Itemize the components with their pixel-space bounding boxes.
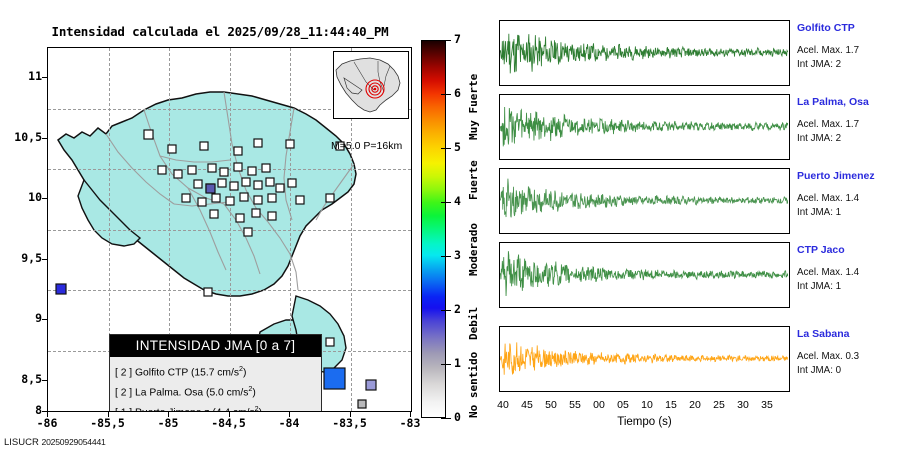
station-accel: Acel. Max. 1.4 [797,267,859,278]
time-tick [600,159,601,160]
map-x-tick: -84 [266,416,312,430]
time-tick [600,94,601,95]
colorbar-tick: 5 [454,140,461,154]
time-tick [648,307,649,308]
time-tick [720,20,721,21]
station-jma: Int JMA: 1 [797,207,841,218]
time-tick [504,391,505,392]
colorbar-tick: 7 [454,32,461,46]
legend-level: [ 2 ] [115,367,132,378]
time-tick [576,94,577,95]
time-tick [672,94,673,95]
time-tick [648,94,649,95]
legend-level: [ 2 ] [115,387,132,398]
time-tick [696,20,697,21]
time-tick [648,242,649,243]
time-tick [672,307,673,308]
time-tick [504,233,505,234]
time-tick [576,307,577,308]
time-tick [672,168,673,169]
time-tick [528,168,529,169]
time-tick [696,233,697,234]
time-tick [600,85,601,86]
time-tick [624,391,625,392]
time-axis: 404550550005101520253035 Tiempo (s) [499,394,790,434]
time-tick [624,307,625,308]
time-tick [768,233,769,234]
time-tick [528,242,529,243]
intensity-colorbar: 0 1 2 3 4 5 6 7 No sentido Debil Moderad… [421,40,481,418]
time-tick [672,326,673,327]
time-tick [576,326,577,327]
time-tick [528,326,529,327]
map-x-tick: -83,5 [327,416,373,430]
time-tick [624,20,625,21]
map-x-tick: -86 [24,416,70,430]
time-tick [696,391,697,392]
time-tick [768,168,769,169]
legend-close: ) [259,407,262,412]
waveform-plot [499,242,790,308]
time-tick [720,326,721,327]
station-jma: Int JMA: 1 [797,281,841,292]
time-tick [552,20,553,21]
epicenter-icon [374,88,377,91]
time-tick [576,159,577,160]
time-tick [672,20,673,21]
time-tick [624,326,625,327]
time-tick [720,159,721,160]
time-tick [696,94,697,95]
legend-row: [ 2 ] Golfito CTP (15.7 cm/s2) [115,361,321,381]
time-tick [744,20,745,21]
legend-row: [ 1 ] Puerto Jimene z (4.4 cm/s2) [115,401,321,412]
legend-station: Golfito CTP [135,367,188,378]
time-tick [672,391,673,392]
map-y-tick: 11 [2,69,42,83]
time-tick [552,85,553,86]
colorbar-category: No sentido [467,352,480,418]
time-tick [576,233,577,234]
time-tick [720,168,721,169]
legend-station: Puerto Jimene z [135,407,209,412]
legend-level: [ 1 ] [115,407,132,412]
time-tick [600,307,601,308]
seismogram-row: Golfito CTP Acel. Max. 1.7 Int JMA: 2 [489,20,910,86]
time-tick [768,94,769,95]
colorbar-category: Muy Fuerte [467,74,480,140]
time-tick [528,307,529,308]
map-y-tick: 10,5 [2,130,42,144]
time-tick [648,391,649,392]
time-tick [552,242,553,243]
time-tick [624,94,625,95]
station-accel: Acel. Max. 1.7 [797,119,859,130]
time-tick [624,233,625,234]
station-accel: Acel. Max. 1.7 [797,45,859,56]
time-tick [744,326,745,327]
legend-station: La Palma. Osa [135,387,203,398]
waveform-plot [499,168,790,234]
time-tick [720,242,721,243]
time-tick [768,242,769,243]
time-tick [576,20,577,21]
map-y-tick: 8 [2,403,42,417]
time-tick [528,391,529,392]
time-tick [720,94,721,95]
inset-locator-map [333,51,409,119]
time-tick [504,159,505,160]
legend-accel: (4.4 cm/s [212,407,254,412]
colorbar-tick: 2 [454,302,461,316]
time-tick [552,168,553,169]
time-tick [600,391,601,392]
time-tick [768,307,769,308]
seismogram-row: CTP Jaco Acel. Max. 1.4 Int JMA: 1 [489,242,910,308]
station-jma: Int JMA: 0 [797,365,841,376]
time-tick [744,242,745,243]
time-tick [744,391,745,392]
time-tick [648,168,649,169]
seismogram-panel: Golfito CTP Acel. Max. 1.7 Int JMA: 2 La… [489,0,910,460]
colorbar-tick: 6 [454,86,461,100]
time-tick [528,94,529,95]
time-tick [552,307,553,308]
seismogram-row: La Sabana Acel. Max. 0.3 Int JMA: 0 [489,326,910,392]
map-x-tick: -85,5 [85,416,131,430]
time-tick-label: 35 [752,399,782,411]
time-tick [696,85,697,86]
time-tick [528,85,529,86]
time-tick [576,391,577,392]
time-tick [672,233,673,234]
time-tick [768,159,769,160]
time-tick [528,159,529,160]
colorbar-gradient [421,40,446,418]
map-y-tick: 10 [2,190,42,204]
map-y-tick: 9,5 [2,251,42,265]
time-tick [744,168,745,169]
time-tick [552,391,553,392]
legend-accel: (5.0 cm/s [206,387,248,398]
footer: LISUCR 20250929054441 [4,437,106,448]
footer-id: 20250929054441 [41,437,105,447]
time-tick [624,85,625,86]
map-panel: Intensidad calculada el 2025/09/28_11:44… [0,0,470,460]
time-tick [552,159,553,160]
time-tick [552,94,553,95]
time-tick [744,307,745,308]
legend-header: INTENSIDAD JMA [0 a 7] [110,335,321,357]
time-tick [744,159,745,160]
map-x-tick: -83 [387,416,433,430]
station-name: La Sabana [797,328,850,340]
time-tick [528,233,529,234]
time-tick [768,85,769,86]
time-tick [552,326,553,327]
time-tick [552,233,553,234]
time-tick [768,391,769,392]
legend-accel: (15.7 cm/s [191,367,239,378]
legend-close: ) [243,367,246,378]
time-tick [720,85,721,86]
time-tick [624,242,625,243]
time-tick [720,233,721,234]
time-tick [696,326,697,327]
time-tick [504,85,505,86]
waveform-plot [499,94,790,160]
time-tick [504,307,505,308]
intensity-legend: INTENSIDAD JMA [0 a 7] [ 2 ] Golfito CTP… [109,334,322,412]
time-tick [672,85,673,86]
time-tick [504,242,505,243]
time-tick [672,159,673,160]
time-tick [576,242,577,243]
time-tick [576,168,577,169]
time-tick [504,94,505,95]
time-tick [504,20,505,21]
colorbar-category: Fuerte [467,160,480,200]
legend-row: [ 2 ] La Palma. Osa (5.0 cm/s2) [115,381,321,401]
legend-rows: [ 2 ] Golfito CTP (15.7 cm/s2) [ 2 ] La … [110,357,321,412]
colorbar-tick: 1 [454,356,461,370]
time-tick [504,326,505,327]
time-tick [504,168,505,169]
station-jma: Int JMA: 2 [797,133,841,144]
time-tick [744,233,745,234]
time-tick [768,326,769,327]
colorbar-tick: 0 [454,410,461,424]
time-tick [672,242,673,243]
time-tick [720,391,721,392]
time-axis-title: Tiempo (s) [499,416,790,428]
inset-map-graphic [334,52,408,118]
time-tick [576,85,577,86]
map-x-tick: -84,5 [206,416,252,430]
time-tick [600,20,601,21]
colorbar-tick: 3 [454,248,461,262]
time-tick [696,242,697,243]
time-tick [648,233,649,234]
map-y-tick: 9 [2,311,42,325]
station-name: La Palma, Osa [797,96,869,108]
colorbar-category: Moderado [467,223,480,276]
map-x-tick: -85 [145,416,191,430]
time-tick [648,159,649,160]
map-y-tick: 8,5 [2,372,42,386]
map-title: Intensidad calculada el 2025/09/28_11:44… [0,24,440,39]
time-tick [744,94,745,95]
time-tick [624,159,625,160]
waveform-plot [499,326,790,392]
station-name: Golfito CTP [797,22,855,34]
time-tick [744,85,745,86]
colorbar-category: Debil [467,307,480,340]
station-name: Puerto Jimenez [797,170,875,182]
time-tick [600,168,601,169]
station-accel: Acel. Max. 1.4 [797,193,859,204]
time-tick [648,326,649,327]
time-tick [600,326,601,327]
colorbar-tick: 4 [454,194,461,208]
time-tick [720,307,721,308]
time-tick [528,20,529,21]
time-tick [600,242,601,243]
time-tick [696,159,697,160]
seismogram-row: Puerto Jimenez Acel. Max. 1.4 Int JMA: 1 [489,168,910,234]
time-tick [648,20,649,21]
time-tick [648,85,649,86]
time-tick [768,20,769,21]
time-tick [696,168,697,169]
waveform-plot [499,20,790,86]
legend-close: ) [252,387,255,398]
footer-label: LISUCR [4,437,39,448]
station-jma: Int JMA: 2 [797,59,841,70]
time-tick [624,168,625,169]
seismogram-row: La Palma, Osa Acel. Max. 1.7 Int JMA: 2 [489,94,910,160]
time-tick [696,307,697,308]
time-tick [600,233,601,234]
station-accel: Acel. Max. 0.3 [797,351,859,362]
station-name: CTP Jaco [797,244,845,256]
